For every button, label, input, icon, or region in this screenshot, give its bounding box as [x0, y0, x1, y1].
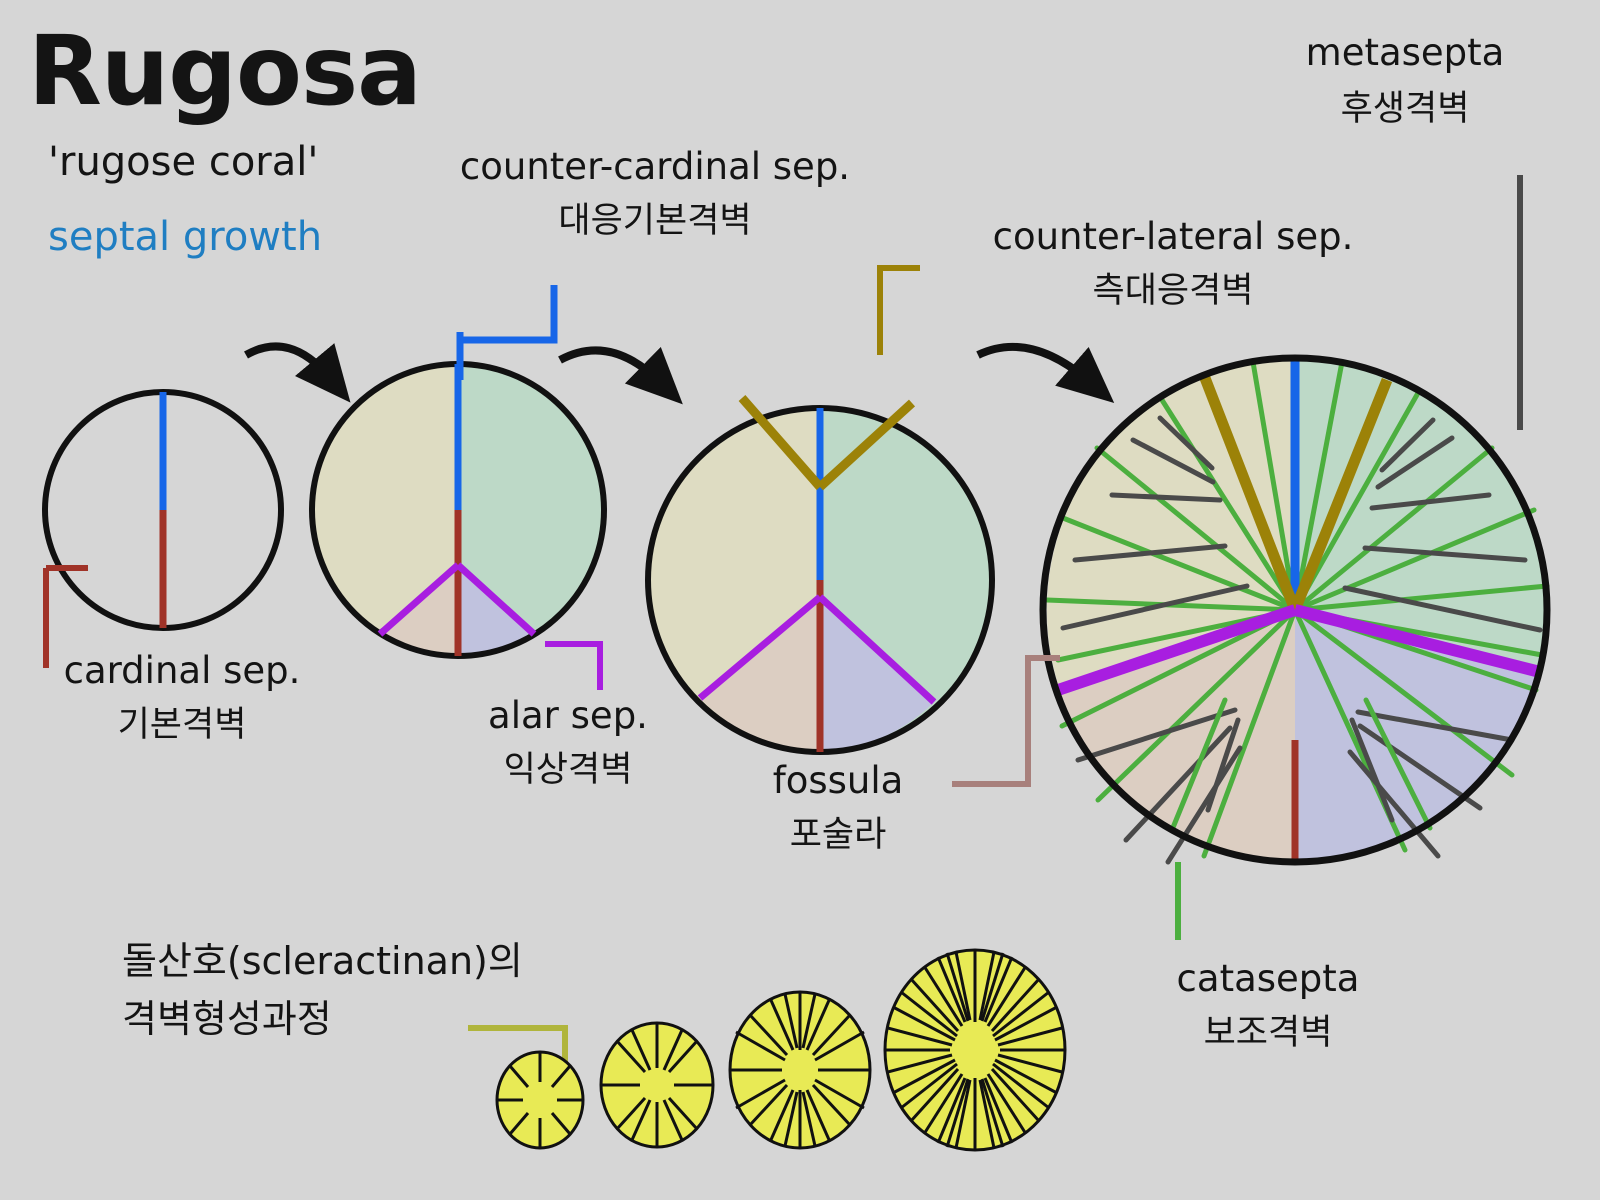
stage-1-circle — [45, 392, 281, 628]
alar-leader-line — [545, 644, 600, 690]
stage-3-circle — [648, 398, 992, 752]
label-cardinal-ko: 기본격벽 — [118, 706, 247, 745]
label-alar-ko: 익상격벽 — [504, 751, 633, 790]
fossula-leader-line — [952, 658, 1060, 784]
scleractinan-circle-3 — [730, 992, 870, 1148]
label-scleractinan-line1: 돌산호(scleractinan)의 — [122, 940, 523, 983]
label-fossula-en: fossula — [773, 760, 904, 801]
label-metasepta-ko: 후생격벽 — [1341, 90, 1470, 129]
scleractinan-series — [497, 950, 1065, 1150]
arrow-stage1-to-stage2 — [246, 346, 330, 378]
label-counter-lateral-ko: 측대응격벽 — [1092, 272, 1253, 311]
label-counter-cardinal-ko: 대응기본격벽 — [558, 202, 751, 241]
scleractinan-circle-2 — [601, 1023, 713, 1147]
label-catasepta-ko: 보조격벽 — [1204, 1014, 1333, 1053]
stage-4-circle — [1043, 358, 1547, 862]
label-cardinal-en: cardinal sep. — [64, 650, 301, 691]
label-scleractinan-line2: 격벽형성과정 — [122, 998, 332, 1041]
counter-cardinal-leader-line — [460, 285, 554, 340]
page-accent-subtitle: septal growth — [48, 215, 322, 260]
page-subtitle: 'rugose coral' — [48, 140, 318, 185]
stage-2-circle — [312, 364, 604, 656]
scleractinan-circle-1 — [497, 1052, 583, 1148]
label-metasepta-en: metasepta — [1306, 32, 1505, 73]
arrow-stage2-to-stage3 — [560, 350, 660, 382]
arrow-stage3-to-stage4 — [978, 347, 1090, 382]
label-catasepta-en: catasepta — [1177, 958, 1360, 999]
scleractinan-circle-4 — [885, 950, 1065, 1150]
counter-lateral-leader-line — [880, 268, 920, 355]
label-counter-lateral-en: counter-lateral sep. — [993, 216, 1354, 257]
label-alar-en: alar sep. — [488, 695, 648, 736]
diagram-canvas: Rugosa 'rugose coral' septal growth coun… — [0, 0, 1600, 1200]
page-title: Rugosa — [28, 18, 421, 126]
label-counter-cardinal-en: counter-cardinal sep. — [460, 146, 850, 187]
label-fossula-ko: 포술라 — [790, 816, 887, 855]
